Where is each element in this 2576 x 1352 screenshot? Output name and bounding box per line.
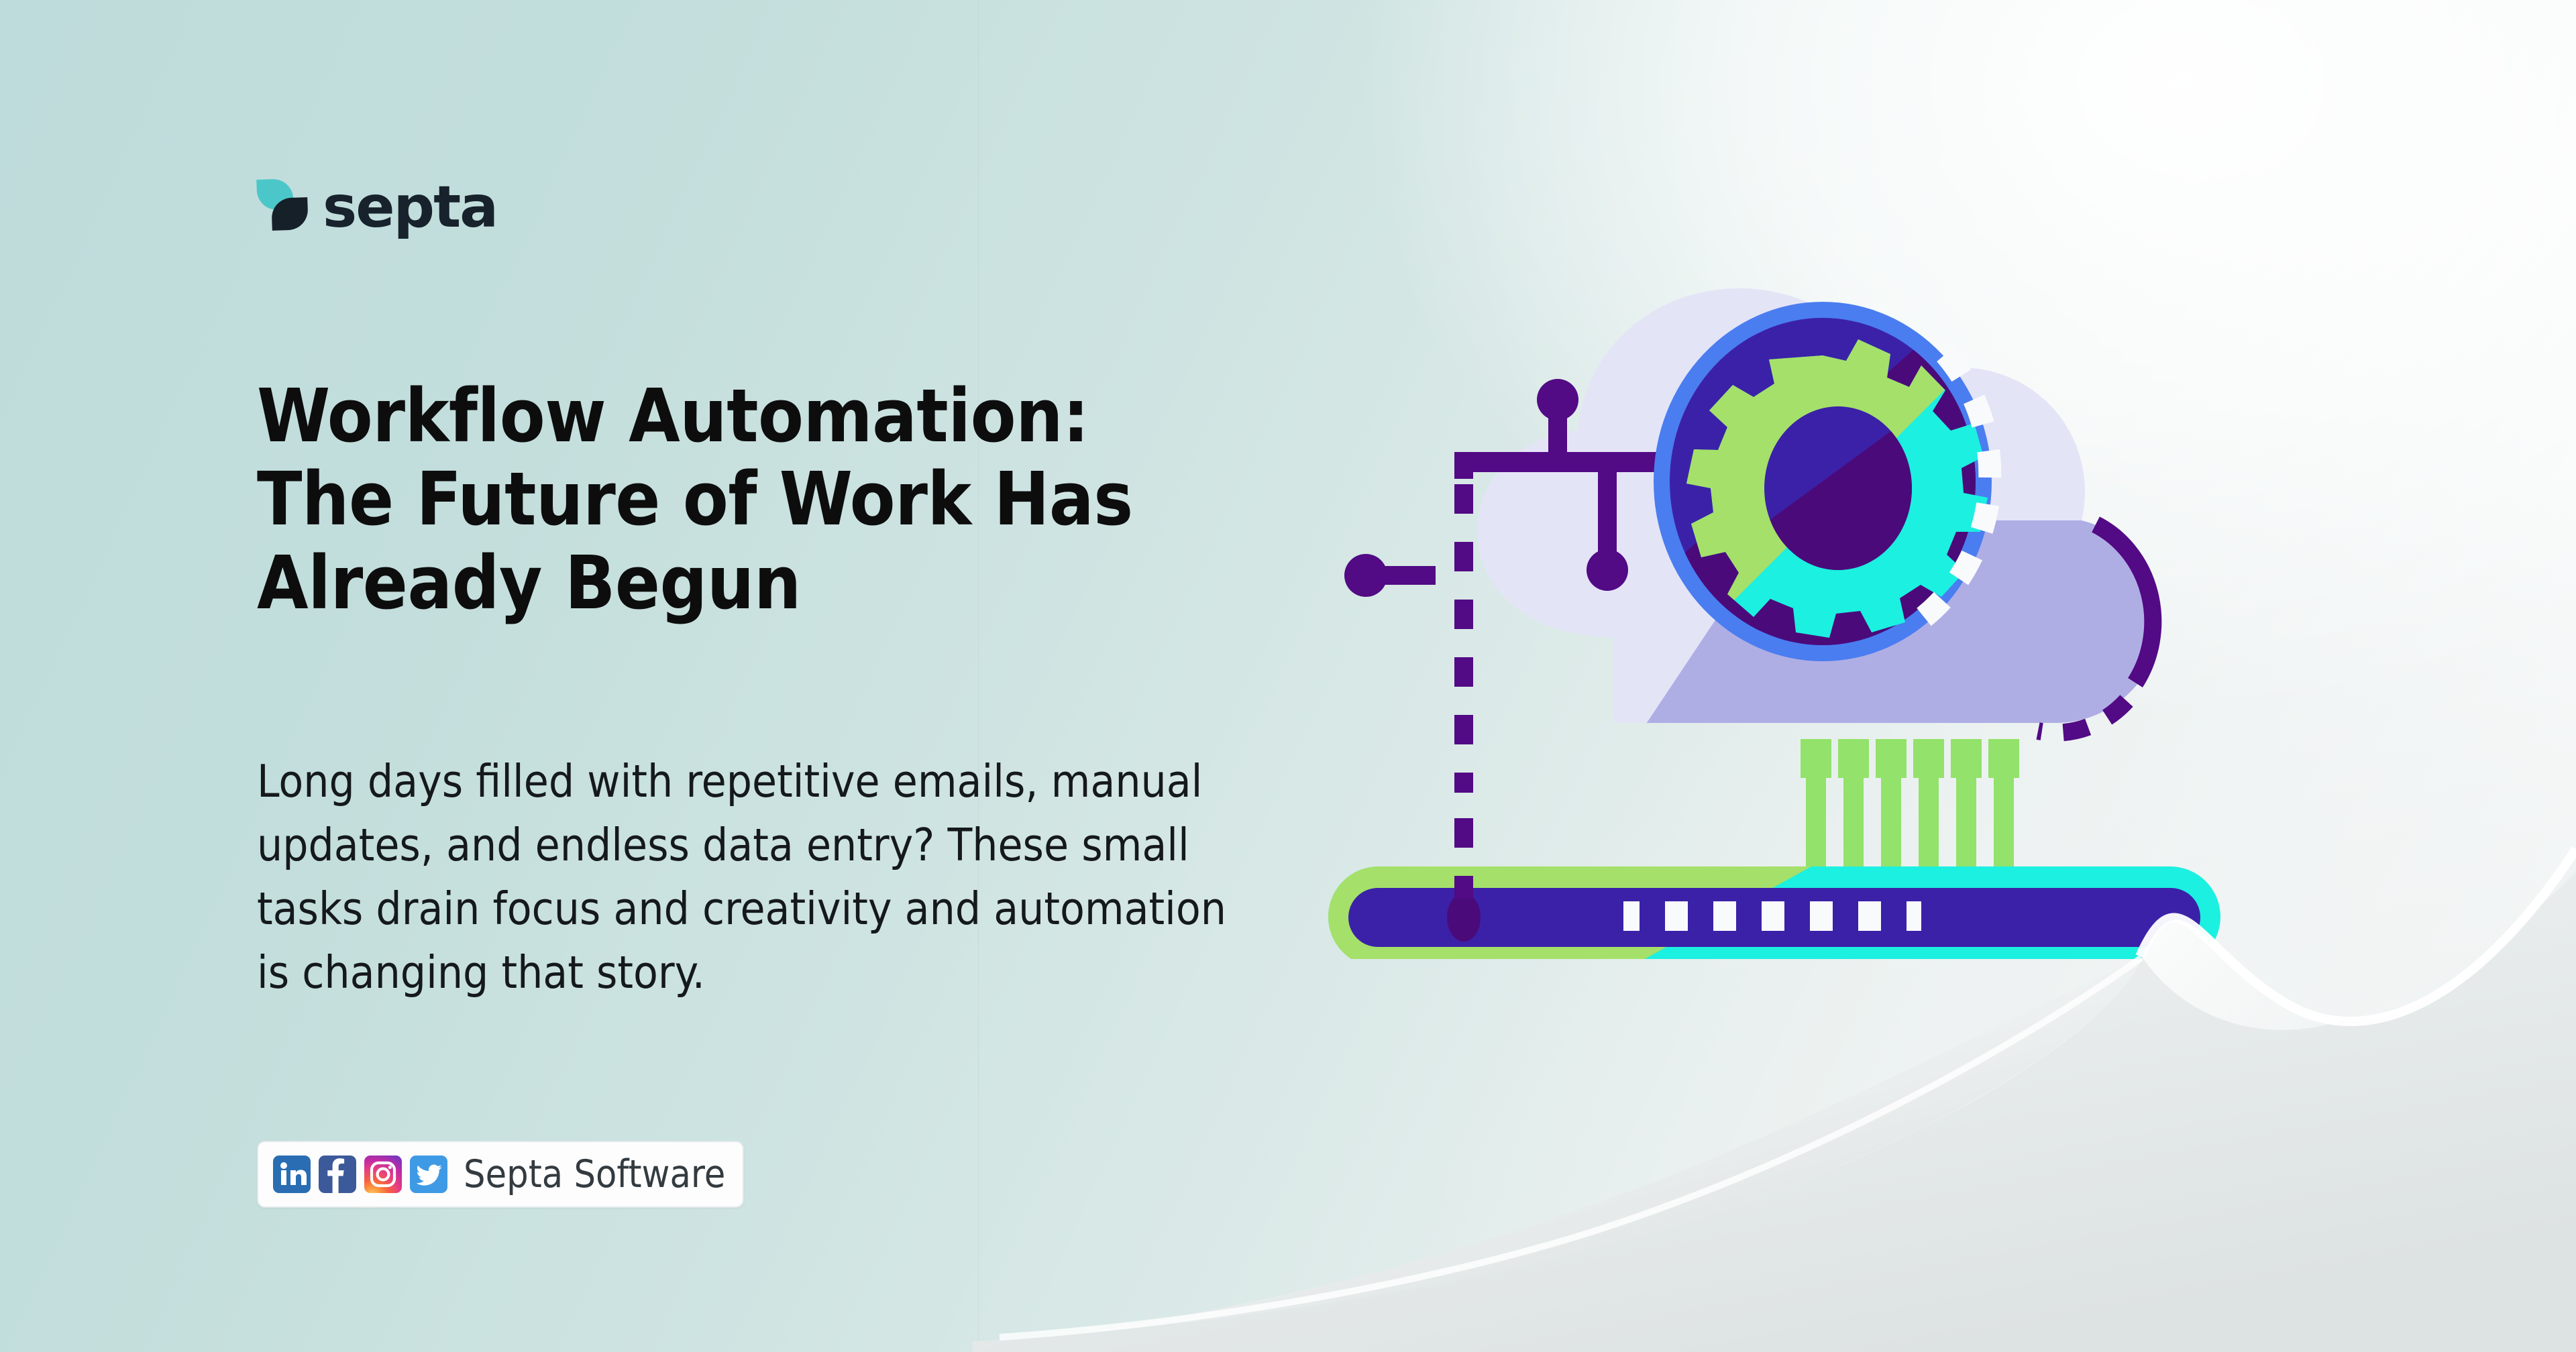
cloud-automation-gear-illustration (1328, 221, 2321, 959)
banner-canvas: septa Workflow Automation: The Future of… (0, 0, 2576, 1352)
body-line-1: Long days filled with repetitive emails,… (257, 750, 1357, 813)
septa-leaf-mark-icon (257, 178, 305, 231)
hero-description: Long days filled with repetitive emails,… (257, 750, 1357, 1005)
brand-logo[interactable]: septa (257, 176, 497, 233)
instagram-icon[interactable] (364, 1156, 402, 1193)
twitter-icon[interactable] (410, 1156, 447, 1193)
social-badge[interactable]: Septa Software (257, 1141, 744, 1208)
bar-dashes (1623, 901, 1921, 931)
linkedin-icon[interactable] (273, 1156, 311, 1193)
body-line-4: is changing that story. (257, 941, 1357, 1005)
headline-line-1: Workflow Automation: (257, 374, 1303, 457)
brand-wordmark: septa (323, 178, 497, 236)
headline-line-3: Already Begun (257, 541, 1303, 624)
body-line-2: updates, and endless data entry? These s… (257, 813, 1357, 877)
headline-line-2: The Future of Work Has (257, 457, 1303, 541)
facebook-icon[interactable] (319, 1156, 356, 1193)
page-title: Workflow Automation: The Future of Work … (257, 374, 1303, 624)
background-seam (978, 0, 979, 1352)
social-handle-label: Septa Software (455, 1156, 725, 1194)
body-line-3: tasks drain focus and creativity and aut… (257, 877, 1357, 941)
